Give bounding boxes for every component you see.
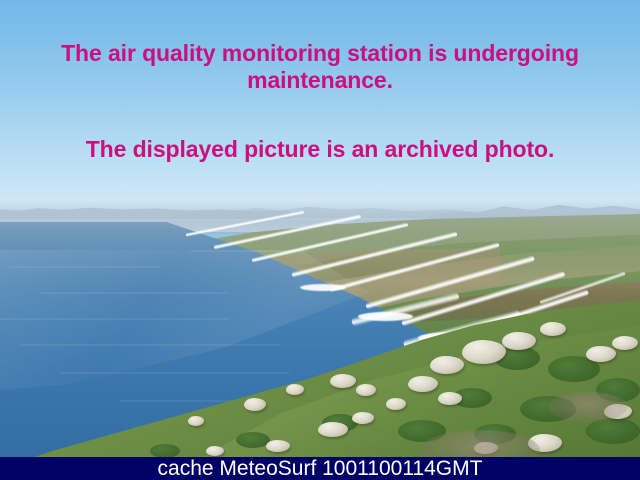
sky-region <box>0 0 640 232</box>
ocean-texture-streak <box>0 318 230 320</box>
ocean-texture-streak <box>60 372 290 374</box>
webcam-viewer: The air quality monitoring station is un… <box>0 0 640 480</box>
archived-webcam-photo <box>0 0 640 480</box>
shrub <box>586 418 640 444</box>
shrub <box>150 444 180 458</box>
ocean-texture-streak <box>40 292 230 294</box>
ocean-texture-streak <box>20 344 280 346</box>
ocean-texture-streak <box>10 266 160 268</box>
shrub <box>236 432 270 448</box>
surf-foam-patch <box>300 284 346 291</box>
surf-foam-patch <box>358 312 413 321</box>
cache-status-bar: cache MeteoSurf 1001100114GMT <box>0 457 640 480</box>
bare-dirt-patch <box>548 392 628 422</box>
